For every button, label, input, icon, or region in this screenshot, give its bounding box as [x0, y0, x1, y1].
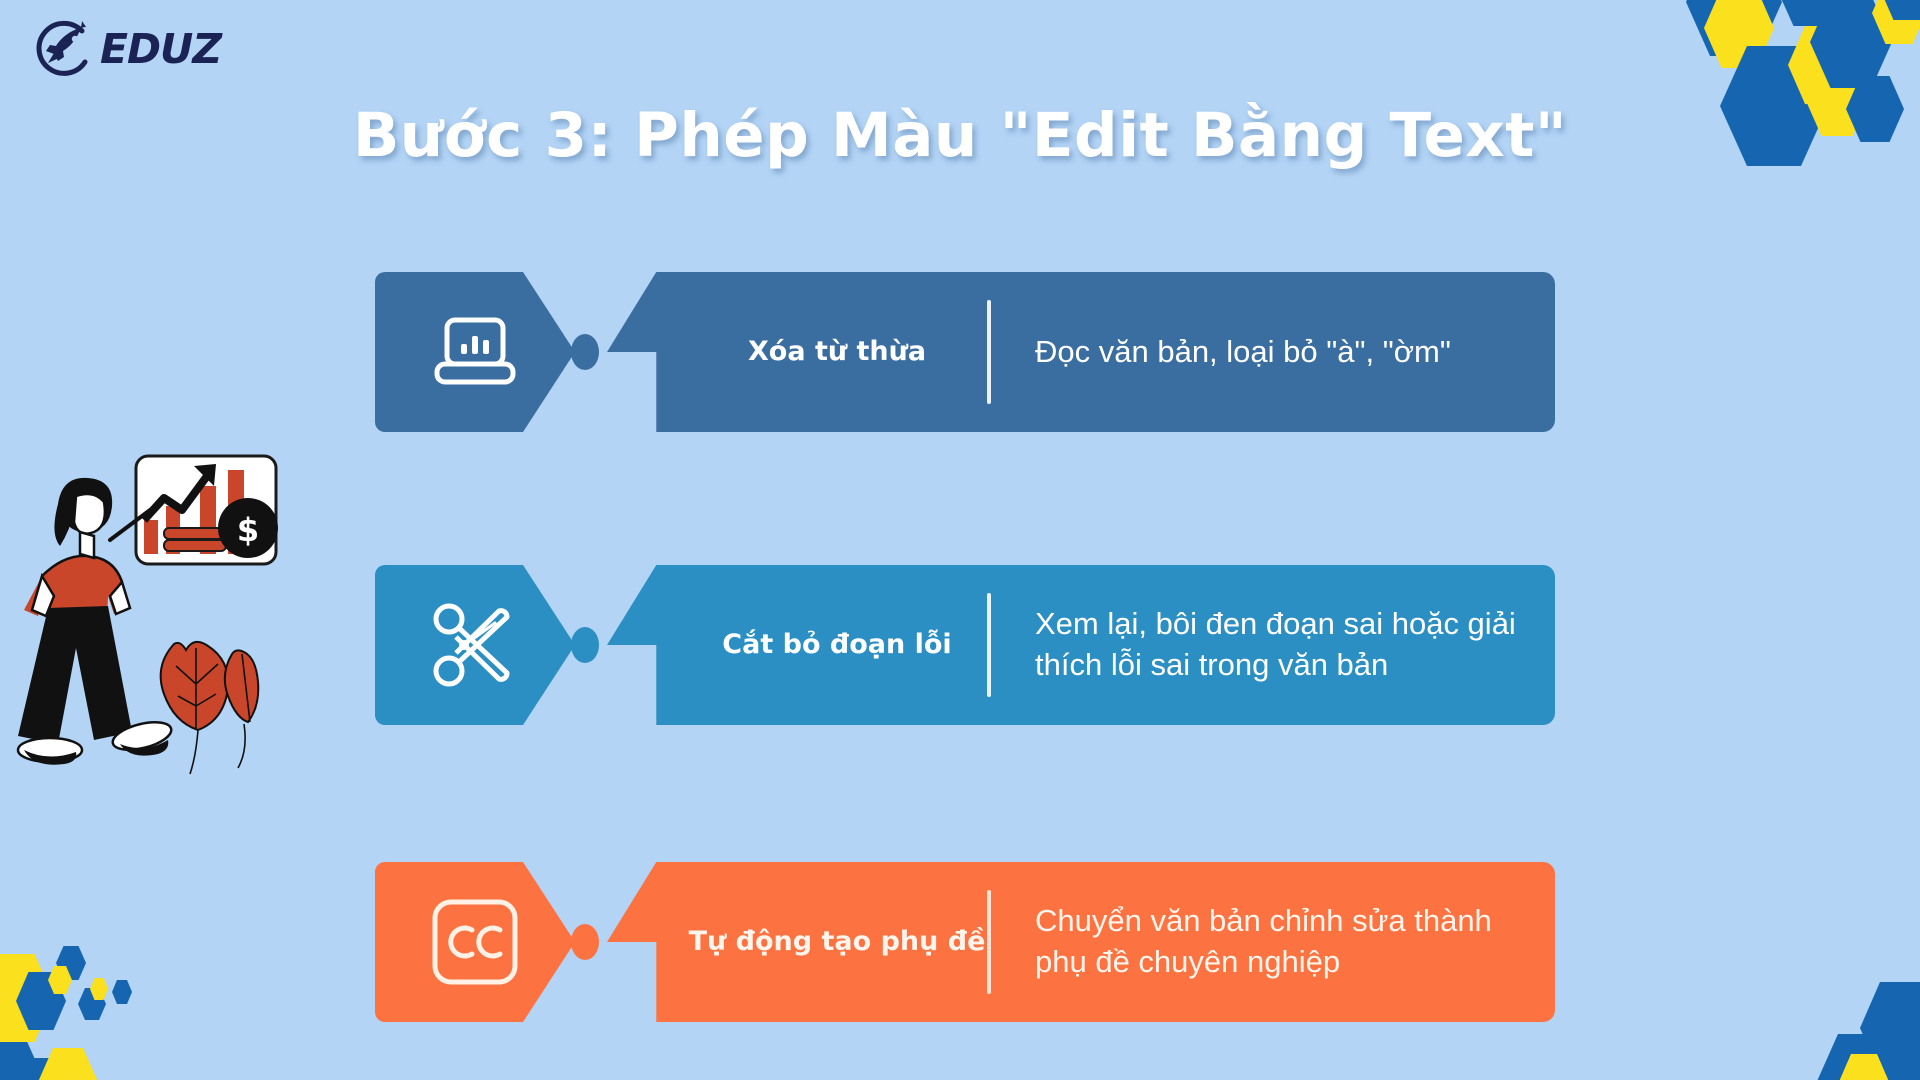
row-1-content[interactable]: Xóa từ thừa Đọc văn bản, loại bỏ "à", "ờ… [607, 272, 1555, 432]
row-1-label: Xóa từ thừa [687, 335, 987, 369]
hexagon-decoration-bottom-left [0, 890, 270, 1080]
scissors-icon [429, 599, 521, 691]
woman-presenting-chart-illustration: $ [14, 448, 294, 778]
hexagon-decoration-bottom-right [1710, 930, 1920, 1080]
row-2-label: Cắt bỏ đoạn lỗi [687, 628, 987, 662]
row-2-icon-tag[interactable] [375, 565, 575, 725]
row-1-divider [987, 300, 991, 404]
brand-name: EDUZ [100, 25, 221, 73]
closed-caption-icon [430, 897, 520, 987]
row-1-connector-dot [571, 334, 599, 370]
row-1-icon-tag[interactable] [375, 272, 575, 432]
brand-logo: EDUZ [34, 18, 221, 80]
row-3-description: Chuyển văn bản chỉnh sửa thành phụ đề ch… [991, 901, 1555, 983]
rocket-circle-icon [34, 18, 96, 80]
feature-row-3[interactable]: Tự động tạo phụ đề Chuyển văn bản chỉnh … [375, 862, 1555, 1022]
row-3-content[interactable]: Tự động tạo phụ đề Chuyển văn bản chỉnh … [607, 862, 1555, 1022]
row-2-connector-dot [571, 627, 599, 663]
row-2-description: Xem lại, bôi đen đoạn sai hoặc giải thíc… [991, 604, 1555, 686]
row-3-label: Tự động tạo phụ đề [687, 925, 987, 959]
row-3-divider [987, 890, 991, 994]
row-2-divider [987, 593, 991, 697]
row-2-content[interactable]: Cắt bỏ đoạn lỗi Xem lại, bôi đen đoạn sa… [607, 565, 1555, 725]
row-1-description: Đọc văn bản, loại bỏ "à", "ờm" [991, 332, 1555, 373]
laptop-chart-icon [433, 314, 517, 390]
row-3-connector-dot [571, 924, 599, 960]
feature-row-2[interactable]: Cắt bỏ đoạn lỗi Xem lại, bôi đen đoạn sa… [375, 565, 1555, 725]
row-3-icon-tag[interactable] [375, 862, 575, 1022]
svg-text:$: $ [237, 511, 259, 549]
page-title: Bước 3: Phép Màu "Edit Bằng Text" [0, 100, 1920, 171]
feature-row-1[interactable]: Xóa từ thừa Đọc văn bản, loại bỏ "à", "ờ… [375, 272, 1555, 432]
